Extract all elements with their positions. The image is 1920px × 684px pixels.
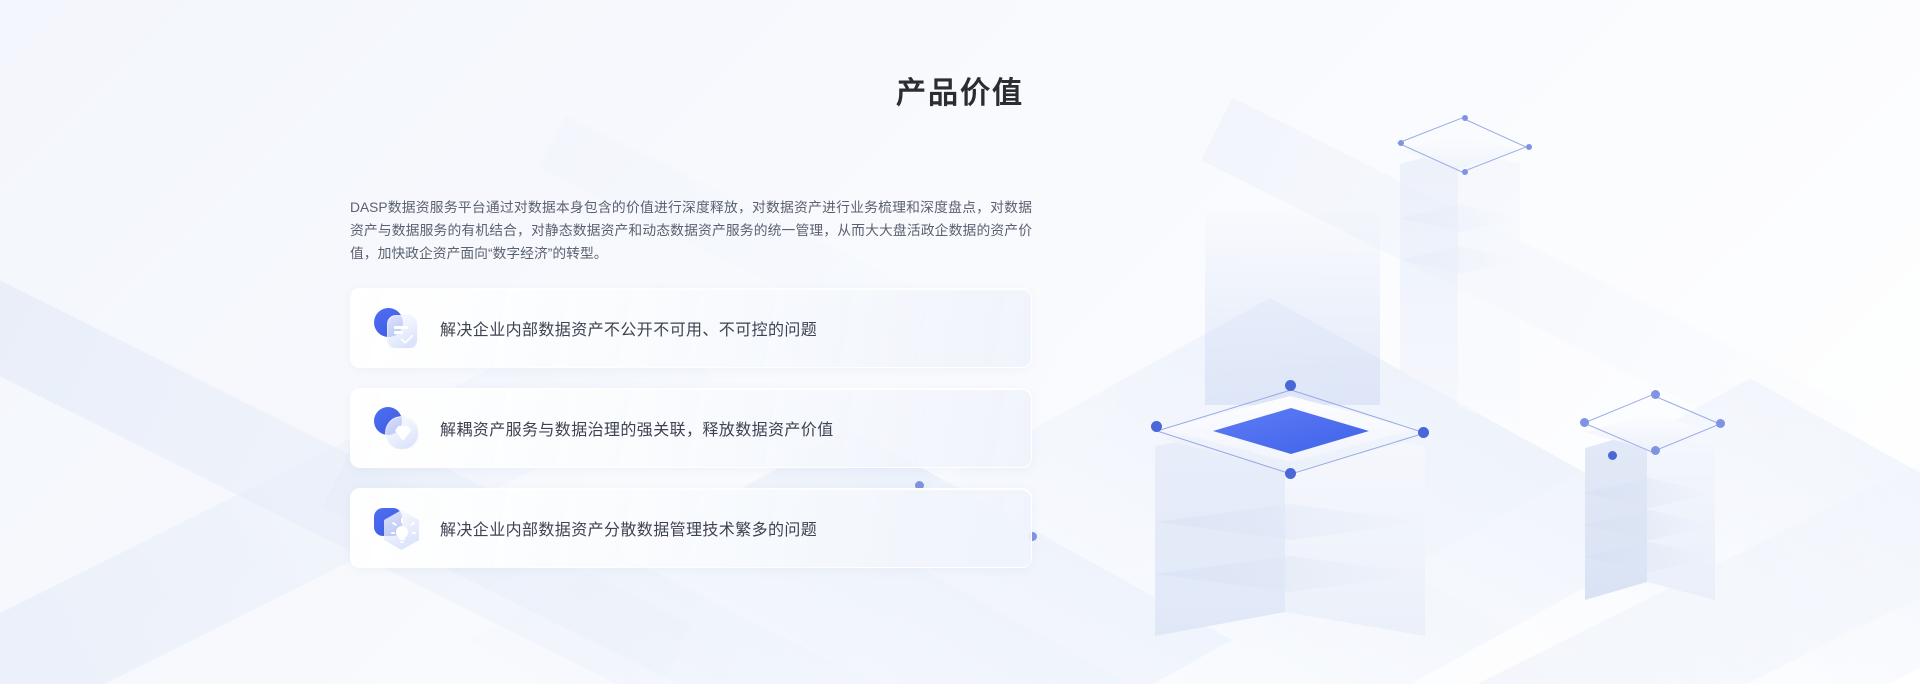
- lightbulb-hexagon-icon: [374, 505, 420, 551]
- light-shaft: [1205, 210, 1380, 405]
- icon-gem-shape: [395, 426, 411, 441]
- product-value-section: 产品价值 DASP数据资服务平台通过对数据本身包含的价值进行深度释放，对数据资产…: [0, 0, 1920, 684]
- gem-shield-icon: [374, 405, 420, 451]
- corner-dot-bottom: [1651, 446, 1660, 455]
- icon-bulb-base: [399, 538, 405, 540]
- icon-text-line: [394, 331, 403, 334]
- icon-bulb-ray: [391, 532, 395, 534]
- corner-dot-right: [1526, 144, 1532, 150]
- icon-bulb-ray: [392, 522, 397, 526]
- corner-dot-top: [1651, 390, 1660, 399]
- corner-dot-left: [1151, 421, 1162, 432]
- main-data-block: [1155, 380, 1425, 680]
- value-card[interactable]: 解决企业内部数据资产不公开不可用、不可控的问题: [350, 288, 1032, 368]
- tower-face-right: [1458, 148, 1520, 438]
- icon-bulb-ray: [412, 532, 416, 534]
- icon-bulb-ray: [401, 518, 403, 523]
- icon-document-sheet: [387, 315, 418, 349]
- wireframe-outline: [1581, 392, 1723, 454]
- corner-dot-left: [1580, 418, 1589, 427]
- corner-dot-bottom: [1462, 169, 1468, 175]
- intro-paragraph: DASP数据资服务平台通过对数据本身包含的价值进行深度释放，对数据资产进行业务梳…: [350, 196, 1032, 265]
- corner-dot-right: [1716, 419, 1725, 428]
- corner-dot-bottom: [1285, 468, 1296, 479]
- corner-dot-top: [1462, 115, 1468, 121]
- value-card-label: 解决企业内部数据资产分散数据管理技术繁多的问题: [440, 516, 817, 540]
- icon-glass-circle: [385, 416, 419, 450]
- value-card-label: 解耦资产服务与数据治理的强关联，释放数据资产价值: [440, 416, 834, 440]
- icon-text-line: [394, 326, 408, 329]
- wireframe-outline: [1396, 116, 1528, 174]
- value-card-list: 解决企业内部数据资产不公开不可用、不可控的问题 解耦资产服务与数据治理的强关联，…: [350, 288, 1032, 588]
- document-check-icon: [374, 305, 420, 351]
- page-title: 产品价值: [0, 68, 1920, 112]
- wireframe-outline: [1153, 386, 1429, 478]
- icon-bulb-base: [400, 541, 404, 543]
- corner-dot-left: [1398, 140, 1404, 146]
- icon-bulb-ray: [410, 522, 415, 526]
- value-card-label: 解决企业内部数据资产不公开不可用、不可控的问题: [440, 316, 817, 340]
- corner-dot-top: [1285, 380, 1296, 391]
- value-card[interactable]: 解决企业内部数据资产分散数据管理技术繁多的问题: [350, 488, 1032, 568]
- icon-bulb-glass: [396, 526, 408, 538]
- stacked-block: [1585, 400, 1715, 630]
- corner-dot-right: [1418, 427, 1429, 438]
- accent-dot: [1608, 451, 1617, 460]
- value-card[interactable]: 解耦资产服务与数据治理的强关联，释放数据资产价值: [350, 388, 1032, 468]
